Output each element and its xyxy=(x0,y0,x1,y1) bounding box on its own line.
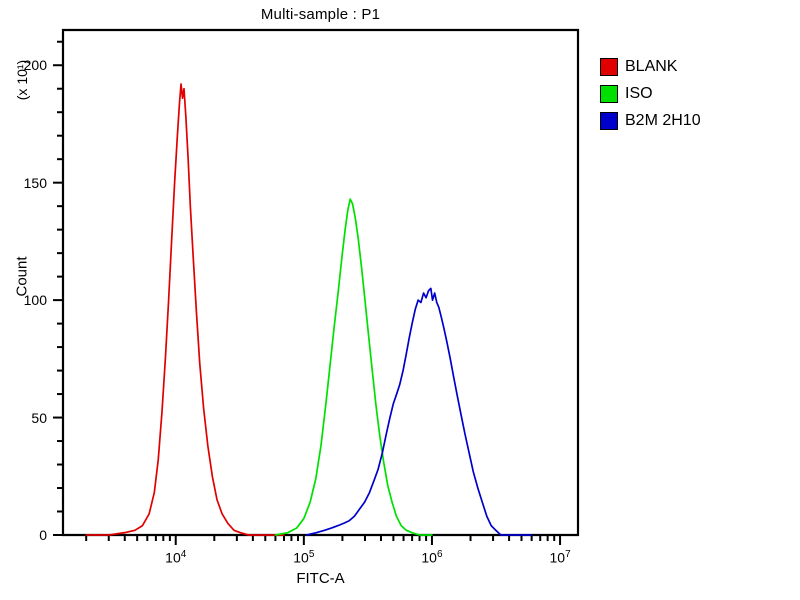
histogram-curves xyxy=(86,84,531,535)
legend: BLANKISOB2M 2H10 xyxy=(600,56,701,137)
legend-color-swatch xyxy=(600,112,618,130)
legend-item[interactable]: ISO xyxy=(600,83,701,105)
legend-color-swatch xyxy=(600,58,618,76)
curve-blank xyxy=(86,84,284,535)
legend-item[interactable]: BLANK xyxy=(600,56,701,78)
axis-ticks xyxy=(53,42,560,545)
legend-label: BLANK xyxy=(625,58,677,76)
flow-cytometry-plot: Multi-sample : P1 Count (x 10¹) FITC-A 0… xyxy=(0,0,800,600)
y-tick-label: 200 xyxy=(7,57,47,73)
legend-item[interactable]: B2M 2H10 xyxy=(600,110,701,132)
plot-frame xyxy=(63,30,578,535)
y-axis-exponent-label: (x 10¹) xyxy=(14,44,30,116)
y-tick-label: 0 xyxy=(7,527,47,543)
curve-iso xyxy=(275,199,432,535)
x-axis-title: FITC-A xyxy=(63,570,578,587)
y-tick-label: 50 xyxy=(7,410,47,426)
x-tick-label: 106 xyxy=(402,549,462,566)
x-tick-label: 104 xyxy=(146,549,206,566)
curve-b2m-2h10 xyxy=(307,288,532,535)
x-tick-label: 105 xyxy=(274,549,334,566)
y-tick-label: 100 xyxy=(7,292,47,308)
y-tick-label: 150 xyxy=(7,175,47,191)
legend-label: B2M 2H10 xyxy=(625,112,701,130)
x-tick-label: 107 xyxy=(530,549,590,566)
legend-label: ISO xyxy=(625,85,653,103)
legend-color-swatch xyxy=(600,85,618,103)
